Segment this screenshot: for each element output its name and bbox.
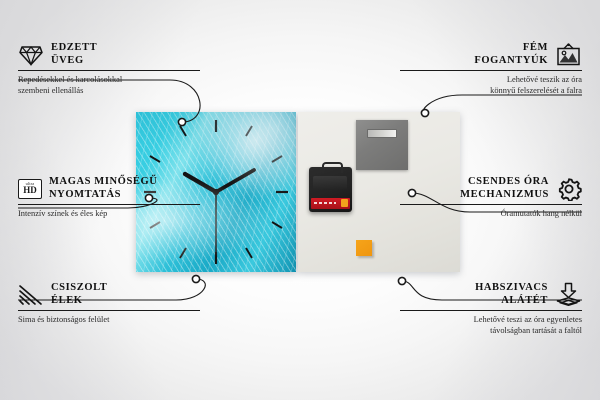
polished-edges-icon	[18, 284, 44, 306]
mechanism-label-chip	[341, 199, 348, 207]
feature-tempered-glass-title: EDZETT ÜVEG	[51, 42, 97, 67]
foam-pad-sample	[356, 240, 372, 256]
feature-tempered-glass-desc-2: szembeni ellenállás	[18, 85, 200, 96]
gear-icon	[556, 177, 582, 201]
feature-high-quality-print: ultra HD MAGAS MINŐSÉGŰ NYOMTATÁS Intenz…	[18, 176, 200, 219]
feature-high-quality-print-rule	[18, 204, 200, 205]
feature-polished-edges-title: CSISZOLT ÉLEK	[51, 282, 107, 307]
feature-foam-spacer-desc-1: Lehetővé teszi az óra egyenletes	[400, 314, 582, 325]
infographic-poster: EDZETT ÜVEG Repedésekkel és karcolásokka…	[0, 0, 600, 400]
mechanism-label	[311, 198, 350, 209]
feature-metal-handles-desc-1: Lehetővé teszik az óra	[400, 74, 582, 85]
connector-metal-handles	[423, 95, 582, 113]
feature-high-quality-print-head: ultra HD MAGAS MINŐSÉGŰ NYOMTATÁS	[18, 176, 200, 201]
feature-metal-handles-desc-2: könnyű felszerelését a falra	[400, 85, 582, 96]
feature-foam-spacer-title: HABSZIVACS ALÁTÉT	[475, 282, 548, 307]
feature-foam-spacer-head: HABSZIVACS ALÁTÉT	[400, 282, 582, 307]
feature-silent-mechanism-title: CSENDES ÓRA MECHANIZMUS	[460, 176, 549, 201]
feature-high-quality-print-desc-1: Intenzív színek és éles kép	[18, 208, 200, 219]
feature-foam-spacer: HABSZIVACS ALÁTÉT Lehetővé teszi az óra …	[400, 282, 582, 336]
clock-mechanism-box	[309, 167, 352, 212]
feature-tempered-glass: EDZETT ÜVEG Repedésekkel és karcolásokka…	[18, 42, 200, 96]
feature-foam-spacer-desc-2: távolságban tartását a faltól	[400, 325, 582, 336]
metal-hanger-plate	[356, 120, 408, 170]
feature-tempered-glass-desc-1: Repedésekkel és karcolásokkal	[18, 74, 200, 85]
feature-foam-spacer-rule	[400, 310, 582, 311]
feature-polished-edges-rule	[18, 310, 200, 311]
picture-hanger-icon	[555, 43, 582, 67]
feature-metal-handles-head: FÉM FOGANTYÚK	[400, 42, 582, 67]
feature-tempered-glass-rule	[18, 70, 200, 71]
feature-silent-mechanism-head: CSENDES ÓRA MECHANIZMUS	[400, 176, 582, 201]
feature-polished-edges-desc-1: Sima és biztonságos felület	[18, 314, 200, 325]
feature-metal-handles-title: FÉM FOGANTYÚK	[474, 42, 548, 67]
feature-metal-handles: FÉM FOGANTYÚK Lehetővé teszik az óra kön…	[400, 42, 582, 96]
feature-silent-mechanism-desc-1: Óramutatók hang nélkül	[400, 208, 582, 219]
hanger-keyhole-slot	[367, 129, 397, 138]
feature-silent-mechanism-rule	[400, 204, 582, 205]
feature-silent-mechanism: CSENDES ÓRA MECHANIZMUS Óramutatók hang …	[400, 176, 582, 219]
diamond-icon	[18, 44, 44, 66]
mechanism-ridge	[313, 176, 347, 190]
mechanism-label-text	[314, 202, 336, 204]
foam-pad-icon	[555, 282, 582, 307]
feature-metal-handles-rule	[400, 70, 582, 71]
ultra-hd-icon: ultra HD	[18, 179, 42, 199]
feature-high-quality-print-title: MAGAS MINŐSÉGŰ NYOMTATÁS	[49, 176, 157, 201]
feature-polished-edges-head: CSISZOLT ÉLEK	[18, 282, 200, 307]
feature-polished-edges: CSISZOLT ÉLEK Sima és biztonságos felüle…	[18, 282, 200, 325]
mechanism-hook	[322, 162, 343, 173]
feature-tempered-glass-head: EDZETT ÜVEG	[18, 42, 200, 67]
ultra-hd-icon-large-text: HD	[23, 186, 37, 195]
